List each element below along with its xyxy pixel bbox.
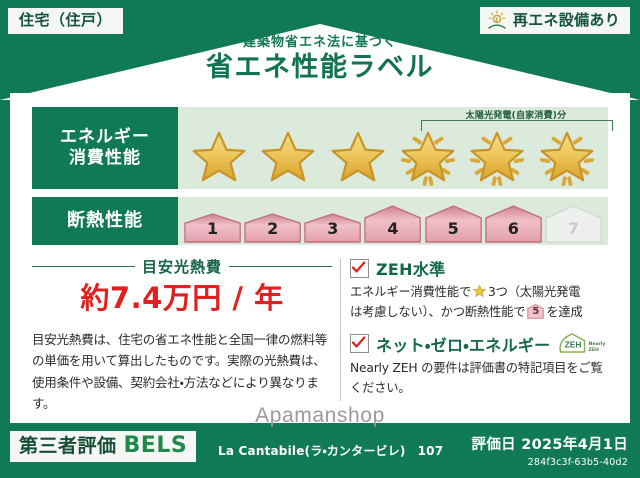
bels-badge-jp: 第三者評価 (19, 437, 117, 456)
renewable-equipment-badge: E 再エネ設備あり (480, 7, 630, 34)
evaluation-date: 評価日 2025年4月1日 (472, 433, 628, 454)
title-subtitle: 建築物省エネ法に基づく (0, 36, 640, 50)
room-number: 107 (418, 444, 444, 458)
zeh-standard-heading: ZEH水準 (350, 256, 612, 280)
heading-rule-right (229, 266, 332, 267)
evaluation-id: 284f3c3f-63b5-40d2 (472, 457, 628, 468)
svg-text:E: E (495, 17, 499, 23)
net-zero-title: ネット・ゼロ・エネルギー (376, 332, 550, 356)
label-card: エネルギー 消費性能 太陽光発電(自家消費)分 断熱性能 1234567 目安光… (10, 93, 630, 423)
zeh-house-logo-icon: ZEH (557, 333, 587, 355)
energy-performance-row: エネルギー 消費性能 太陽光発電(自家消費)分 (32, 107, 608, 189)
insulation-performance-label: 断熱性能 (32, 197, 178, 245)
energy-label-line2: 消費性能 (69, 148, 141, 169)
zeh-logo-subtext: Nearly ZEH (588, 342, 605, 355)
insulation-level-number: 4 (387, 219, 398, 243)
insulation-level-7: 7 (545, 205, 602, 243)
net-zero-block: ネット・ゼロ・エネルギー ZEH Nearly ZEH Nearly ZEH の… (350, 332, 612, 399)
house-type-tag: 住宅（住戸） (8, 8, 123, 34)
zeh-logo-sub1: Nearly (588, 342, 605, 347)
label-title: 建築物省エネ法に基づく 省エネ性能ラベル (0, 36, 640, 83)
check-icon (350, 259, 367, 276)
insulation-level-2: 2 (244, 213, 301, 243)
insulation-level-number: 2 (267, 219, 278, 243)
star-icon-solar (536, 128, 598, 186)
star-icon-base (327, 128, 389, 186)
star-icon (472, 284, 487, 298)
zeh-desc-part2: は考慮しない）、かつ断熱性能で (350, 305, 525, 319)
insulation-level-6: 6 (485, 205, 542, 243)
insulation-performance-body: 1234567 (178, 197, 608, 245)
zeh-section: ZEH水準 エネルギー消費性能で3つ（太陽光発電は考慮しない）、かつ断熱性能で5… (350, 256, 612, 408)
insulation-level-number: 5 (448, 219, 459, 243)
footer-band: 第三者評価 BELS La Cantabile(ラ・カンタービレ)107 評価日… (0, 423, 640, 478)
insulation-level-4: 4 (364, 205, 421, 243)
energy-label-root: 住宅（住戸） E 再エネ設備あり 建築物省エネ法に基づく 省エネ性能ラベル エネ… (0, 0, 640, 478)
insulation-level-badge-text: 5 (527, 305, 544, 319)
net-zero-heading: ネット・ゼロ・エネルギー ZEH Nearly ZEH (350, 332, 612, 356)
evaluation-info: 評価日 2025年4月1日 284f3c3f-63b5-40d2 (472, 433, 628, 468)
star-icon-solar (397, 128, 459, 186)
energy-performance-body: 太陽光発電(自家消費)分 (178, 107, 608, 189)
star-icon-solar (466, 128, 528, 186)
energy-performance-label: エネルギー 消費性能 (32, 107, 178, 189)
net-zero-checkbox (350, 334, 369, 353)
utility-cost-section: 目安光熱費 約7.4万円 / 年 目安光熱費は、住宅の省エネ性能と全国一律の燃料… (32, 256, 332, 415)
column-divider (340, 259, 341, 401)
zeh-desc-part1: エネルギー消費性能で (350, 285, 471, 299)
energy-label-line1: エネルギー (60, 127, 150, 148)
insulation-performance-row: 断熱性能 1234567 (32, 197, 608, 245)
zeh-desc-part3: を達成 (546, 305, 582, 319)
zeh-standard-title: ZEH水準 (376, 256, 445, 280)
insulation-scale: 1234567 (184, 199, 602, 243)
zeh-standard-checkbox (350, 259, 369, 278)
renewable-badge-label: 再エネ設備あり (513, 13, 620, 28)
bels-badge-en: BELS (124, 435, 188, 457)
svg-text:ZEH: ZEH (565, 339, 582, 349)
insulation-level-number: 7 (568, 219, 579, 243)
zeh-logo: ZEH Nearly ZEH (557, 333, 605, 355)
title-main: 省エネ性能ラベル (0, 52, 640, 83)
insulation-level-1: 1 (184, 213, 241, 243)
insulation-level-3: 3 (304, 213, 361, 243)
zeh-logo-sub2: ZEH (588, 348, 598, 353)
star-icon-base (257, 128, 319, 186)
zeh-desc-star-count: 3つ（太陽光発電 (488, 285, 580, 299)
building-name: La Cantabile(ラ・カンタービレ) (218, 444, 406, 458)
insulation-level-number: 3 (327, 219, 338, 243)
utility-cost-note: 目安光熱費は、住宅の省エネ性能と全国一律の燃料等の単価を用いて算出したものです。… (32, 329, 332, 415)
building-info: La Cantabile(ラ・カンタービレ)107 (218, 442, 443, 459)
check-icon (350, 334, 367, 351)
insulation-level-number: 6 (508, 219, 519, 243)
net-zero-description: Nearly ZEH の要件は評価書の特記項目をご覧ください。 (350, 359, 612, 399)
zeh-standard-block: ZEH水準 エネルギー消費性能で3つ（太陽光発電は考慮しない）、かつ断熱性能で5… (350, 256, 612, 323)
heading-rule-left (32, 266, 135, 267)
insulation-level-5: 5 (425, 205, 482, 243)
utility-cost-heading: 目安光熱費 (32, 256, 332, 277)
utility-cost-value: 約7.4万円 / 年 (32, 283, 332, 315)
zeh-standard-description: エネルギー消費性能で3つ（太陽光発電は考慮しない）、かつ断熱性能で5を達成 (350, 283, 612, 323)
star-icon-base (188, 128, 250, 186)
utility-cost-heading-text: 目安光熱費 (142, 256, 222, 277)
insulation-level-number: 1 (207, 219, 218, 243)
bels-badge: 第三者評価 BELS (10, 431, 196, 462)
sun-solar-icon: E (486, 10, 508, 30)
energy-star-rating (178, 128, 608, 186)
insulation-level-badge: 5 (527, 304, 544, 319)
